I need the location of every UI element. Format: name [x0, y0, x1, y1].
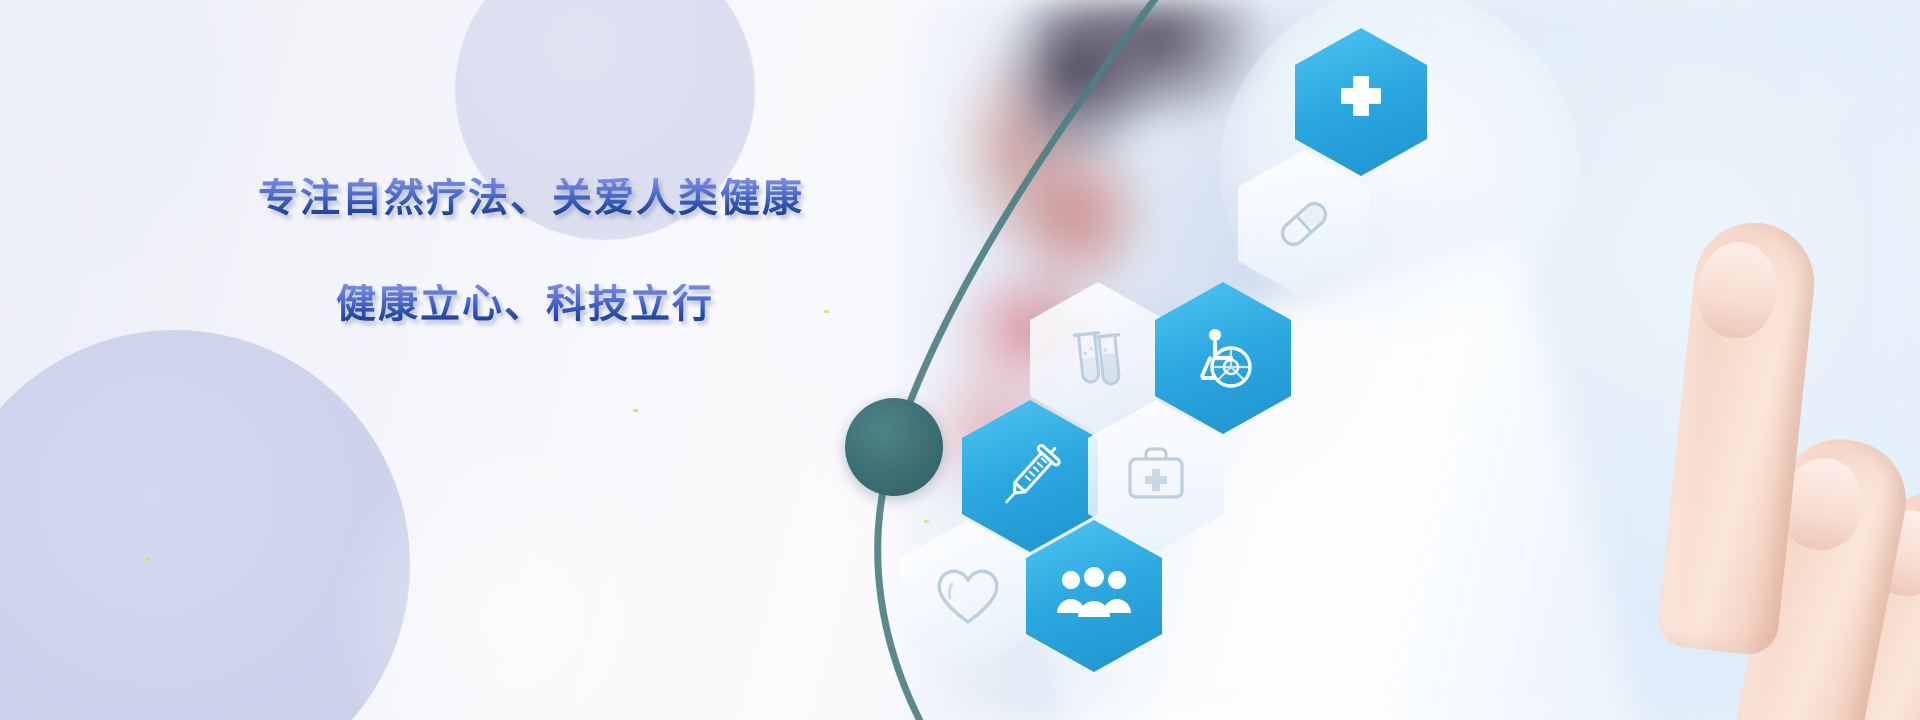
teal-arc-group	[0, 0, 1920, 720]
health-banner: 专注自然疗法、关爱人类健康 健康立心、科技立行	[0, 0, 1920, 720]
teal-arc-node	[845, 398, 943, 496]
teal-arc-icon	[0, 0, 1920, 720]
